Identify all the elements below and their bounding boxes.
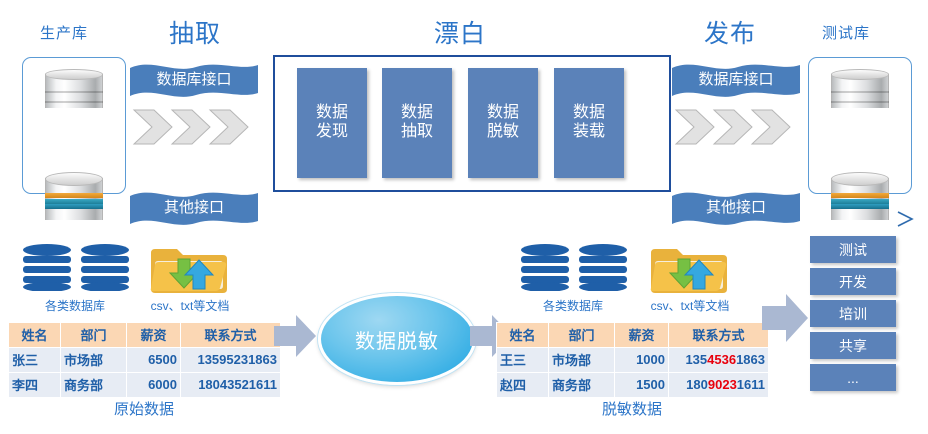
target-label: 共享 <box>839 336 867 356</box>
ribbon-label-db-interface-left: 数据库接口 <box>130 62 258 97</box>
col-header-dept: 部门 <box>549 323 615 348</box>
cell-dept: 商务部 <box>61 373 127 398</box>
source-db-caption: 各类数据库 <box>20 297 130 314</box>
phone-prefix: 135 <box>685 352 707 367</box>
col-header-salary: 薪资 <box>615 323 669 348</box>
ribbon-other-interface-right: 其他接口 <box>672 190 800 228</box>
ribbon-label-other-interface-right: 其他接口 <box>672 190 800 225</box>
table-header-row: 姓名 部门 薪资 联系方式 <box>497 323 769 348</box>
source-data-table: 姓名 部门 薪资 联系方式 张三 市场部 6500 13595231863 李四… <box>8 322 281 398</box>
target-button-training[interactable]: 培训 <box>810 300 896 327</box>
target-button-more[interactable]: ... <box>810 364 896 391</box>
page-title-bleach: 漂白 <box>400 14 520 50</box>
masked-database-icons <box>518 243 628 296</box>
database-stack-icon <box>518 243 628 291</box>
page-title-publish: 发布 <box>680 14 780 50</box>
cell-dept: 市场部 <box>549 348 615 373</box>
arrow-right-icon <box>762 290 810 346</box>
chevron-arrows-right <box>674 108 798 146</box>
phone-masked-digits: 4536 <box>707 352 736 367</box>
masked-file-caption: csv、txt等文档 <box>640 297 740 314</box>
table-row: 李四 商务部 6000 18043521611 <box>9 373 281 398</box>
table-row: 张三 市场部 6500 13595231863 <box>9 348 281 373</box>
cell-salary-masked: 1500 <box>615 373 669 398</box>
phone-prefix: 180 <box>686 377 708 392</box>
phone-suffix: 1863 <box>736 352 765 367</box>
extract-interface-group: 数据库接口 其他接口 <box>130 62 258 190</box>
table-header-row: 姓名 部门 薪资 联系方式 <box>9 323 281 348</box>
publish-interface-group: 数据库接口 其他接口 <box>672 62 800 190</box>
target-button-development[interactable]: 开发 <box>810 268 896 295</box>
chevron-arrows-icon <box>674 108 798 146</box>
arrow-right-icon <box>274 312 318 360</box>
stage-label-line2: 脱敏 <box>487 123 519 142</box>
cell-name-masked: 赵四 <box>497 373 549 398</box>
ribbon-database-interface-left: 数据库接口 <box>130 62 258 100</box>
masked-file-icon <box>648 245 730 302</box>
masked-db-caption: 各类数据库 <box>518 297 628 314</box>
folder-transfer-icon <box>648 245 730 297</box>
flow-arrow-to-process <box>274 312 318 365</box>
folder-transfer-icon <box>148 245 230 297</box>
stage-label-line2: 发现 <box>316 123 348 142</box>
cell-phone-masked: 18090231611 <box>669 373 769 398</box>
page-title-extract: 抽取 <box>140 14 250 50</box>
target-button-sharing[interactable]: 共享 <box>810 332 896 359</box>
masking-process-label: 数据脱敏 <box>355 325 439 354</box>
target-label: 开发 <box>839 272 867 292</box>
page-title-production-db: 生产库 <box>18 22 110 43</box>
col-header-salary: 薪资 <box>127 323 181 348</box>
flow-arrow-to-targets <box>762 290 810 351</box>
cell-salary: 6500 <box>127 348 181 373</box>
ribbon-label-db-interface-right: 数据库接口 <box>672 62 800 97</box>
table-row: 赵四 商务部 1500 18090231611 <box>497 373 769 398</box>
target-label: 测试 <box>839 240 867 260</box>
cell-name: 张三 <box>9 348 61 373</box>
masking-process-node[interactable]: 数据脱敏 <box>318 293 476 385</box>
ribbon-other-interface-left: 其他接口 <box>130 190 258 228</box>
page-title-test-db: 测试库 <box>800 22 892 43</box>
cell-salary-masked: 1000 <box>615 348 669 373</box>
stage-label-line2: 装载 <box>573 123 605 142</box>
cell-phone: 18043521611 <box>181 373 281 398</box>
ribbon-label-other-interface-left: 其他接口 <box>130 190 258 225</box>
cell-name-masked: 王三 <box>497 348 549 373</box>
source-file-caption: csv、txt等文档 <box>140 297 240 314</box>
stage-box-data-extraction[interactable]: 数据 抽取 <box>382 68 452 178</box>
table-row: 王三 市场部 1000 13545361863 <box>497 348 769 373</box>
cell-dept: 商务部 <box>549 373 615 398</box>
stage-label-line1: 数据 <box>487 104 519 123</box>
target-label: ... <box>847 370 859 386</box>
col-header-contact: 联系方式 <box>669 323 769 348</box>
col-header-dept: 部门 <box>61 323 127 348</box>
phone-masked-digits: 9023 <box>708 377 737 392</box>
stage-box-data-discovery[interactable]: 数据 发现 <box>297 68 367 178</box>
source-footer-label: 原始数据 <box>8 398 280 419</box>
cell-phone: 13595231863 <box>181 348 281 373</box>
target-button-test[interactable]: 测试 <box>810 236 896 263</box>
col-header-name: 姓名 <box>9 323 61 348</box>
database-cylinder-plain <box>45 69 103 117</box>
production-database-panel <box>22 57 126 194</box>
chevron-arrows-icon <box>132 108 256 146</box>
ribbon-database-interface-right: 数据库接口 <box>672 62 800 100</box>
stage-label-line1: 数据 <box>316 104 348 123</box>
stage-box-data-masking[interactable]: 数据 脱敏 <box>468 68 538 178</box>
col-header-name: 姓名 <box>497 323 549 348</box>
stage-label-line1: 数据 <box>573 104 605 123</box>
test-database-panel <box>808 57 912 194</box>
stage-label-line1: 数据 <box>401 104 433 123</box>
target-label: 培训 <box>839 304 867 324</box>
stage-label-line2: 抽取 <box>401 123 433 142</box>
masked-data-table: 姓名 部门 薪资 联系方式 王三 市场部 1000 13545361863 赵四… <box>496 322 769 398</box>
cell-dept: 市场部 <box>61 348 127 373</box>
cell-name: 李四 <box>9 373 61 398</box>
phone-suffix: 1611 <box>737 377 765 392</box>
source-database-icons <box>20 243 130 296</box>
stage-box-data-loading[interactable]: 数据 装载 <box>554 68 624 178</box>
cell-phone-masked: 13545361863 <box>669 348 769 373</box>
col-header-contact: 联系方式 <box>181 323 281 348</box>
masked-footer-label: 脱敏数据 <box>496 398 768 419</box>
database-cylinder-plain <box>831 69 889 117</box>
database-stack-icon <box>20 243 130 291</box>
cell-salary: 6000 <box>127 373 181 398</box>
source-file-icon <box>148 245 230 302</box>
chevron-arrows-left <box>132 108 256 146</box>
